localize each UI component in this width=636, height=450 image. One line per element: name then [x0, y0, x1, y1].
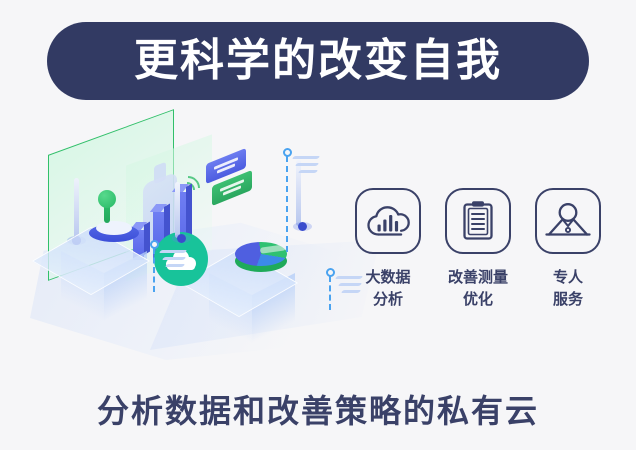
pie-chart-3d [235, 238, 287, 278]
glass-cube-pedestal-left [58, 228, 150, 324]
feature-item-measurement: 改善测量 优化 [442, 188, 514, 311]
dashed-stalk [329, 276, 331, 310]
dashed-node-dot [150, 240, 159, 249]
pin-head [98, 190, 116, 208]
connector-base-dot [172, 234, 191, 243]
hatch-stroke [298, 170, 319, 173]
hatch-stroke [159, 250, 188, 253]
feature-label: 大数据 分析 [365, 267, 410, 311]
clipboard-icon [445, 188, 511, 254]
hatch-stroke [295, 163, 320, 166]
feature-item-service: 专人 服务 [532, 188, 604, 311]
feature-label: 改善测量 优化 [448, 267, 508, 311]
dashed-stalk [286, 156, 288, 252]
hatch-marks-2 [293, 156, 327, 178]
service-person-glyph [545, 201, 591, 241]
clipboard-glyph [460, 199, 496, 243]
cloud-bar-chart-glyph [366, 203, 410, 239]
dashed-stalk [153, 248, 155, 292]
map-pin-icon [98, 190, 116, 224]
hatch-stroke [292, 156, 321, 159]
dashed-node-dot [326, 268, 335, 277]
hatch-stroke [165, 264, 186, 267]
connector-rod [175, 182, 180, 238]
poster-canvas: 更科学的改变自我 [0, 0, 636, 450]
dashed-node-dot [283, 148, 292, 157]
feature-list: 大数据 分析 改善测量 优化 [352, 188, 604, 311]
hatch-marks-1 [160, 250, 194, 272]
feature-item-big-data: 大数据 分析 [352, 188, 424, 311]
cloud-bar-chart-icon [355, 188, 421, 254]
page-title: 更科学的改变自我 [134, 39, 502, 83]
isometric-data-cloud-illustration [30, 120, 370, 360]
service-person-icon [535, 188, 601, 254]
hatch-stroke [162, 257, 187, 260]
connector-base-dot [293, 222, 312, 231]
footer-tagline: 分析数据和改善策略的私有云 [0, 386, 636, 432]
header-pill: 更科学的改变自我 [47, 22, 589, 100]
feature-label: 专人 服务 [553, 267, 583, 311]
